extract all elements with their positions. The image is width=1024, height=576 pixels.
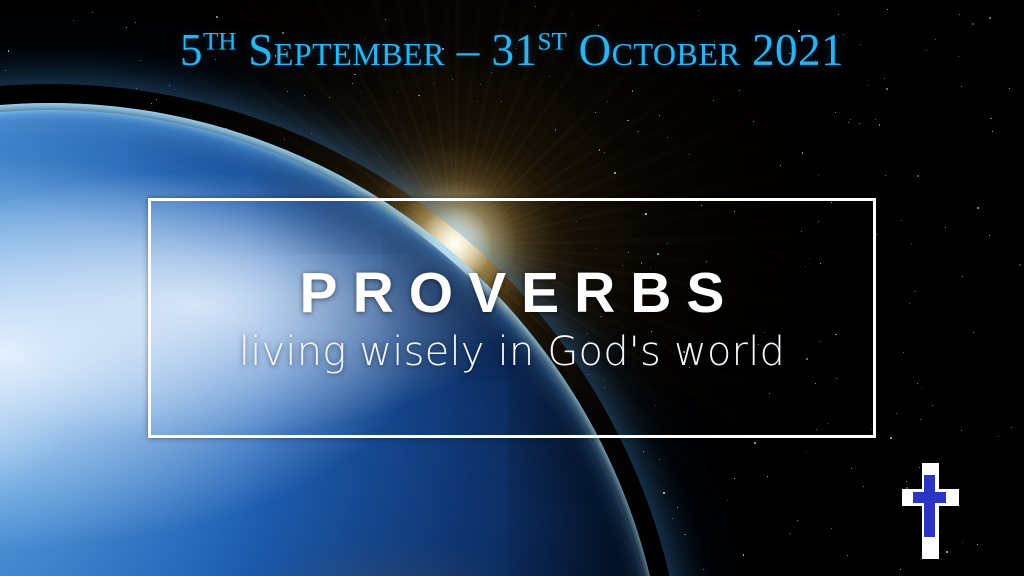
date-range-headline: 5TH September – 31ST October 2021 bbox=[0, 28, 1024, 73]
date-start-day: 5 bbox=[180, 25, 203, 75]
cross-icon bbox=[898, 462, 964, 562]
date-end-month: October bbox=[579, 25, 741, 75]
date-start-ordinal: TH bbox=[203, 28, 237, 55]
date-end-ordinal: ST bbox=[537, 28, 566, 55]
series-subtitle: living wisely in God's world bbox=[239, 332, 785, 372]
date-end-day: 31 bbox=[491, 25, 537, 75]
date-separator: – bbox=[457, 25, 480, 75]
christian-cross-logo bbox=[898, 462, 964, 562]
series-title: PROVERBS bbox=[285, 265, 740, 322]
slide-canvas: 5TH September – 31ST October 2021 PROVER… bbox=[0, 0, 1024, 576]
title-block: PROVERBS living wisely in God's world bbox=[148, 198, 876, 438]
date-year: 2021 bbox=[752, 25, 844, 75]
date-start-month: September bbox=[248, 25, 445, 75]
